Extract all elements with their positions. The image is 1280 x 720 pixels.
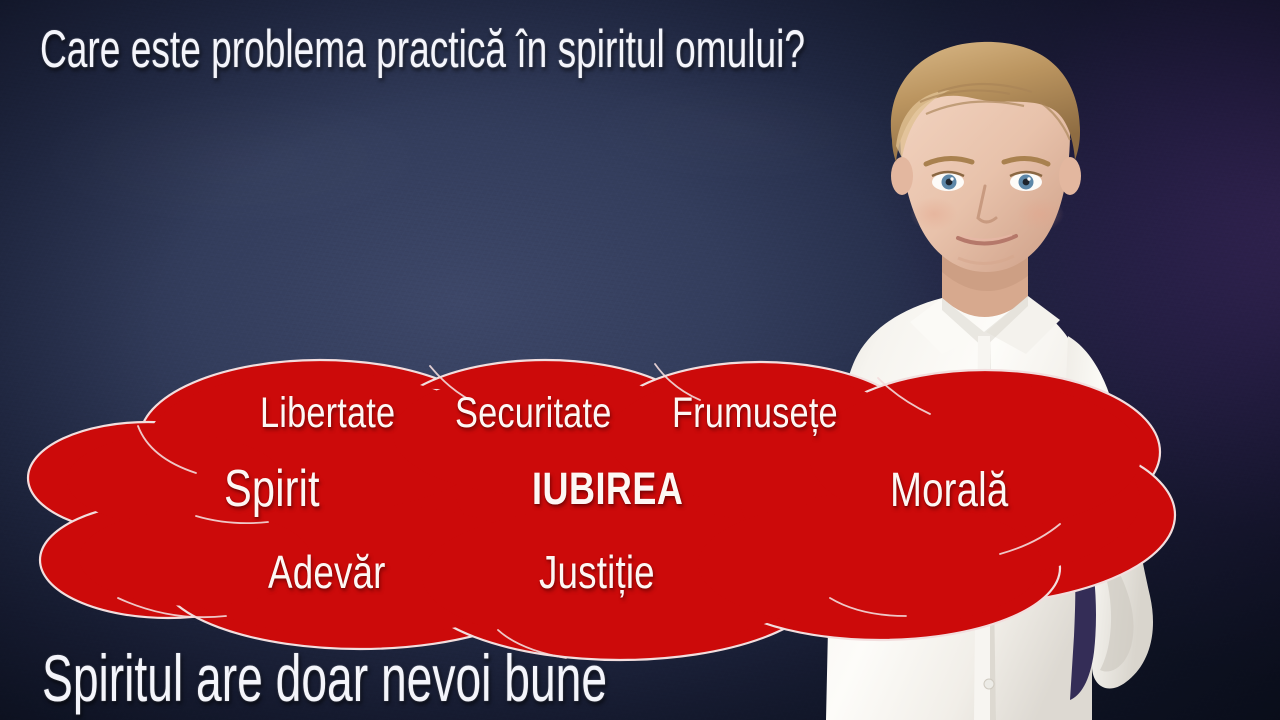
cloud-word-spirit: Spirit [224, 459, 320, 519]
cloud-word-iubirea: IUBIREA [532, 463, 683, 515]
bottom-statement-text: Spiritul are doar nevoi bune [42, 640, 607, 716]
cloud-word-morala: Morală [890, 463, 1008, 518]
page-title: Care este problema practică în spiritul … [40, 19, 805, 80]
cloud-word-frumusete: Frumusețe [672, 389, 838, 438]
cloud-word-adevar: Adevăr [268, 545, 386, 599]
cloud-word-justitie: Justiție [539, 545, 655, 599]
presentation-slide: Libertate Securitate Frumusețe Spirit IU… [0, 0, 1280, 720]
cloud-word-securitate: Securitate [455, 389, 611, 438]
cloud-word-libertate: Libertate [260, 389, 395, 438]
